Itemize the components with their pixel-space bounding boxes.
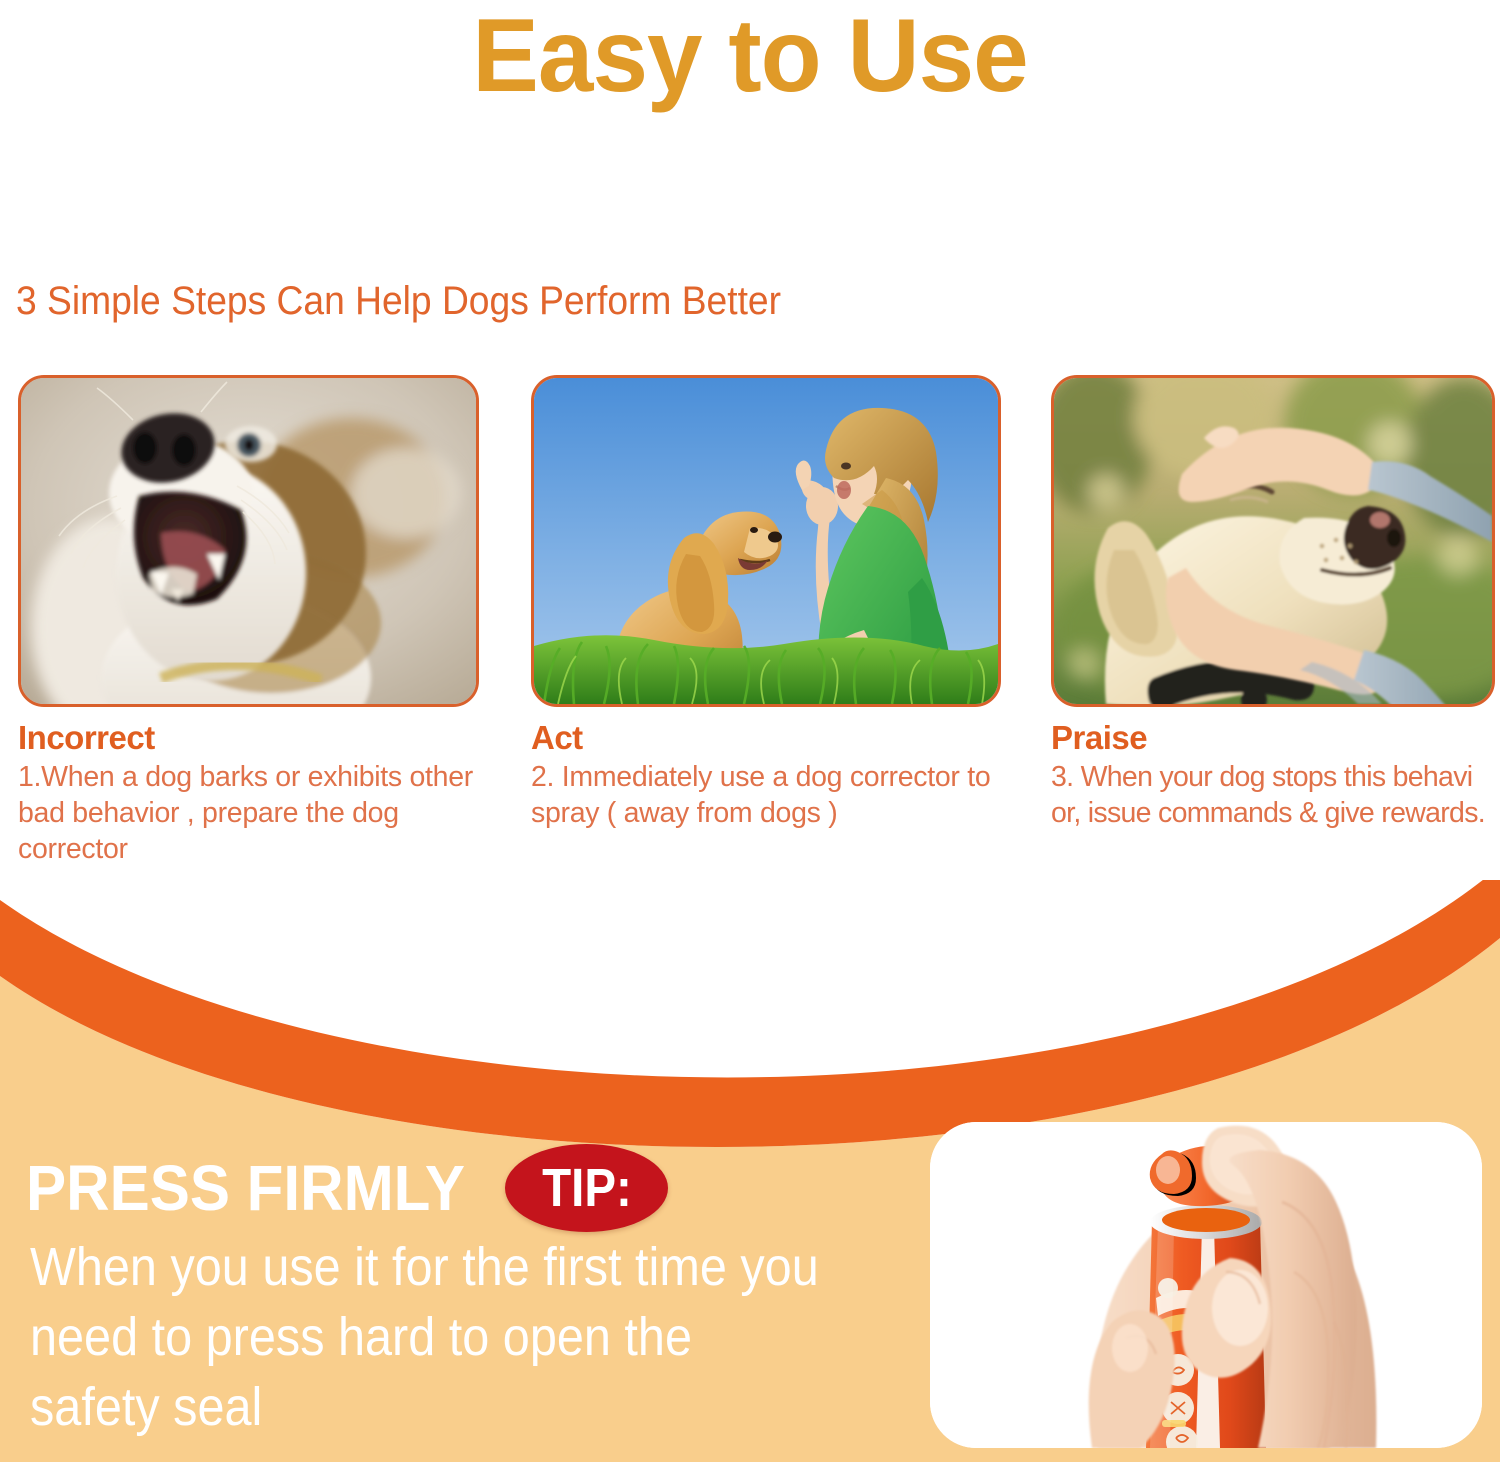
product-photo-card [930,1122,1482,1448]
step-photo-praise [1051,375,1495,707]
step-photo-act [531,375,1001,707]
tip-body-text: When you use it for the first time you n… [30,1232,822,1442]
step-photo-incorrect [18,375,479,707]
woman-training-dog-illustration [534,378,998,704]
step-body: 3. When your dog stops this behavi or, i… [1051,759,1495,831]
tip-badge: TIP: [505,1144,668,1232]
press-firmly-label: PRESS FIRMLY [26,1155,465,1221]
barking-dog-illustration [21,378,476,704]
step-heading: Praise [1051,719,1495,757]
step-card-incorrect: Incorrect 1.When a dog barks or exhibits… [18,375,479,867]
petting-labrador-illustration [1054,378,1492,704]
subtitle: 3 Simple Steps Can Help Dogs Perform Bet… [16,277,781,325]
hand-holding-spray-can-illustration [930,1122,1482,1448]
page-title: Easy to Use [30,0,1470,112]
step-body: 1.When a dog barks or exhibits other bad… [18,759,479,867]
tip-badge-label: TIP: [542,1161,632,1215]
step-heading: Incorrect [18,719,479,757]
press-firmly-row: PRESS FIRMLY TIP: [26,1144,668,1232]
step-heading: Act [531,719,1001,757]
steps-section: Incorrect 1.When a dog barks or exhibits… [0,375,1500,875]
step-card-praise: Praise 3. When your dog stops this behav… [1051,375,1495,831]
step-body: 2. Immediately use a dog corrector to sp… [531,759,1001,831]
step-card-act: Act 2. Immediately use a dog corrector t… [531,375,1001,831]
